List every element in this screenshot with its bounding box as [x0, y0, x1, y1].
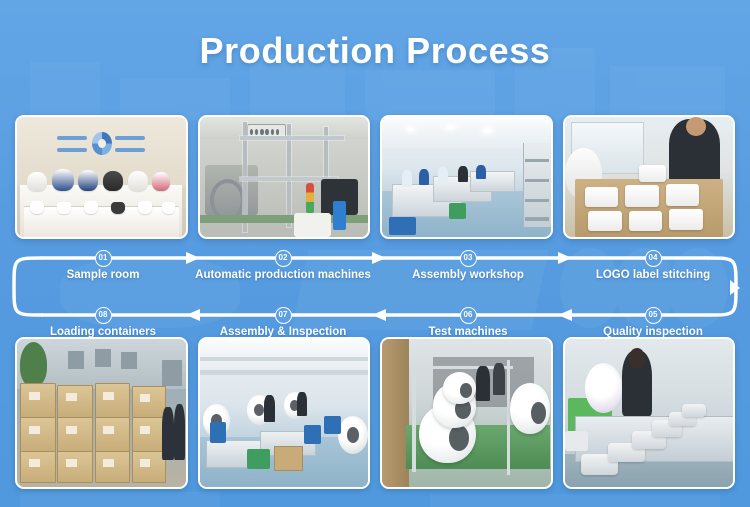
assembly-workshop-photo — [380, 115, 553, 239]
top-photo-row — [15, 115, 735, 239]
page-title: Production Process — [0, 30, 750, 72]
loading-containers-photo — [15, 337, 188, 489]
production-process-banner: Production Process — [0, 0, 750, 507]
bottom-photo-row — [15, 337, 735, 489]
quality-inspection-photo — [563, 337, 736, 489]
logo-label-stitching-photo — [563, 115, 736, 239]
automatic-production-machines-photo — [198, 115, 371, 239]
sample-room-photo — [15, 115, 188, 239]
process-flow-track — [0, 243, 750, 333]
test-machines-photo — [380, 337, 553, 489]
assembly-inspection-photo — [198, 337, 371, 489]
